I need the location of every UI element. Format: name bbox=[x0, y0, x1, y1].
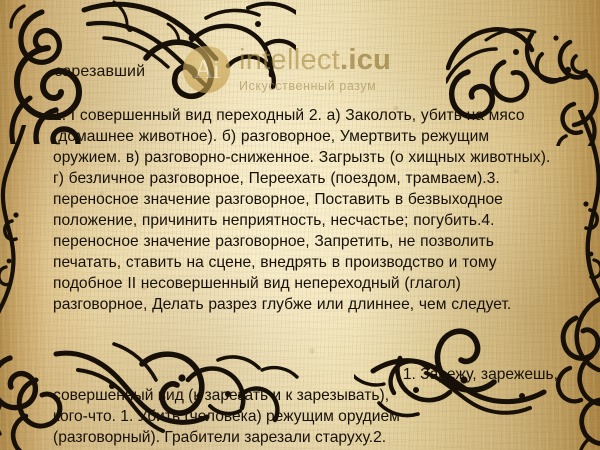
parchment-page: Ai intellect.icu Искусственный разум зар… bbox=[0, 0, 600, 450]
watermark-tagline: Искусственный разум bbox=[239, 80, 391, 93]
watermark-brand-name: intellect bbox=[239, 44, 340, 76]
watermark-brand: intellect.icu bbox=[239, 46, 391, 75]
secondary-definition-block: 1. Зарежу, зарежешь, совершенный вид (к … bbox=[53, 364, 558, 450]
watermark-brand-tld: .icu bbox=[340, 44, 391, 76]
headword: зарезавший bbox=[55, 63, 145, 81]
ornament-right-edge-stem bbox=[560, 110, 600, 340]
tail-line: кого-что. 1. Убить (человека) режущим ор… bbox=[53, 406, 558, 427]
definition-paragraph: 1. I совершенный вид переходный 2. а) За… bbox=[53, 105, 558, 315]
tail-line: (разговорный). Грабители зарезали старух… bbox=[53, 427, 558, 448]
tail-line: совершенный вид (к зарезать и к зарезыва… bbox=[53, 385, 558, 406]
watermark-text-block: intellect.icu Искусственный разум bbox=[239, 46, 391, 93]
watermark-ai-logo-icon: Ai bbox=[183, 46, 230, 93]
watermark: Ai intellect.icu Искусственный разум bbox=[183, 46, 391, 93]
tail-line: 1. Зарежу, зарежешь, bbox=[53, 364, 558, 385]
ornament-left-edge-stem bbox=[0, 125, 38, 335]
